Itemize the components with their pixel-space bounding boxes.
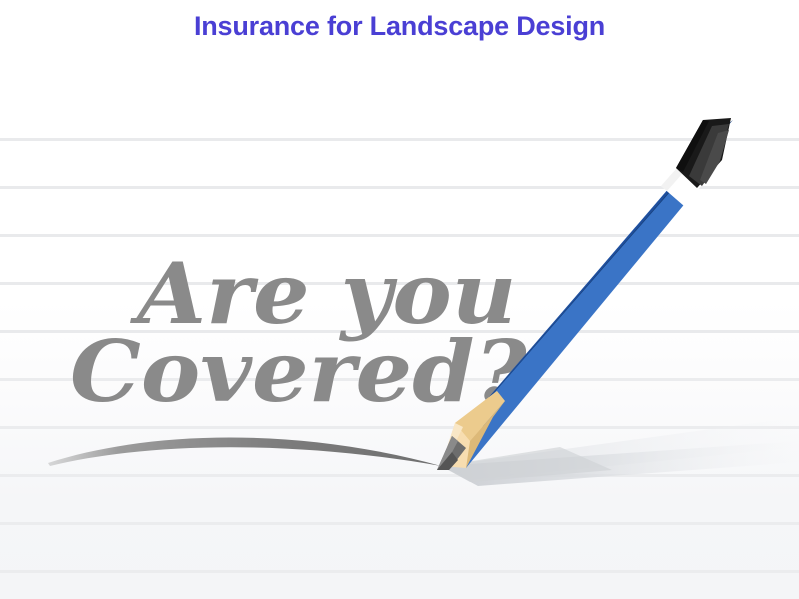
rule-line [0, 138, 799, 141]
rule-line [0, 474, 799, 477]
rule-line [0, 426, 799, 429]
rule-line [0, 234, 799, 237]
rule-line [0, 186, 799, 189]
page-title: Insurance for Landscape Design [0, 11, 799, 42]
rule-line [0, 570, 799, 573]
rule-line [0, 522, 799, 525]
headline-line-2: Covered? [70, 330, 527, 414]
image-canvas: Are you Covered? [0, 0, 799, 599]
